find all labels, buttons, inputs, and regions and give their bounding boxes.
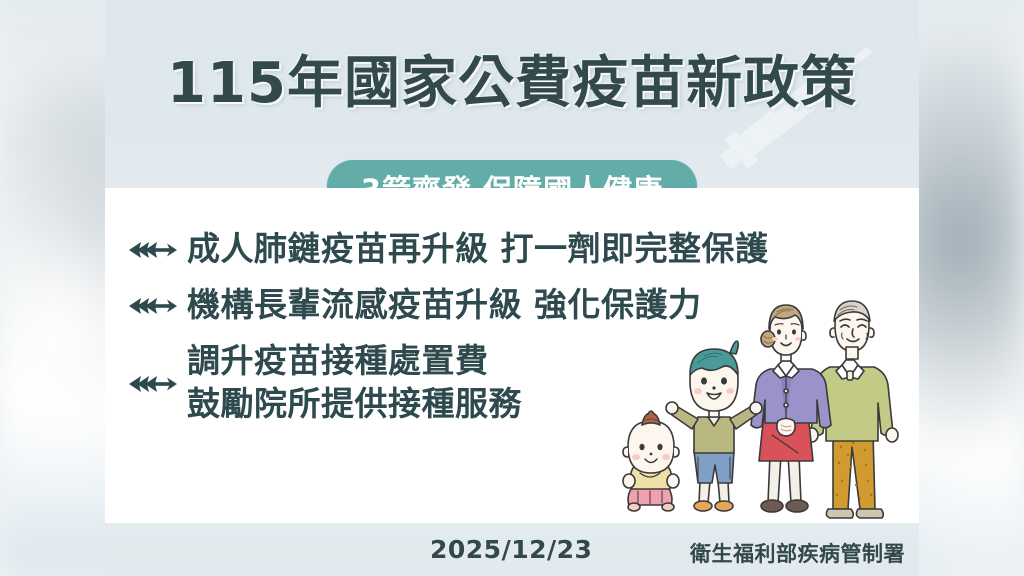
footer-band: 2025/12/23 衛生福利部疾病管制署: [105, 523, 919, 576]
subtitle-pill-wrapper: 3箭齊發 保障國人健康: [105, 160, 919, 188]
bullet-text-3: 調升疫苗接種處置費 鼓勵院所提供接種服務: [187, 340, 522, 424]
bullet-list: 成人肺鏈疫苗再升級 打一劑即完整保護 機構長輩流感疫苗升級 強化保護力: [127, 228, 917, 439]
footer-date: 2025/12/23: [430, 535, 592, 564]
arrow-right-icon: [127, 371, 179, 397]
bullet-text-1: 成人肺鏈疫苗再升級 打一劑即完整保護: [187, 228, 769, 270]
poster-canvas: 115年國家公費疫苗新政策 3箭齊發 保障國人健康 成人肺鏈疫苗再升級 打一劑即: [0, 0, 1024, 576]
arrow-right-icon: [127, 237, 179, 263]
footer-organization: 衛生福利部疾病管制署: [690, 538, 905, 568]
bullet-text-3-line2: 鼓勵院所提供接種服務: [187, 383, 522, 425]
bullet-item-2: 機構長輩流感疫苗升級 強化保護力: [127, 284, 917, 326]
bullet-text-3-line1: 調升疫苗接種處置費: [187, 341, 489, 380]
poster-card: 115年國家公費疫苗新政策 3箭齊發 保障國人健康 成人肺鏈疫苗再升級 打一劑即: [105, 0, 919, 576]
page-title: 115年國家公費疫苗新政策: [105, 38, 919, 119]
header-band: 115年國家公費疫苗新政策 3箭齊發 保障國人健康: [105, 0, 919, 188]
bullet-item-3: 調升疫苗接種處置費 鼓勵院所提供接種服務: [127, 340, 917, 424]
bullet-text-2: 機構長輩流感疫苗升級 強化保護力: [187, 284, 702, 326]
subtitle-badge: 3箭齊發 保障國人健康: [327, 160, 697, 188]
arrow-right-icon: [127, 293, 179, 319]
bullet-item-1: 成人肺鏈疫苗再升級 打一劑即完整保護: [127, 228, 917, 270]
